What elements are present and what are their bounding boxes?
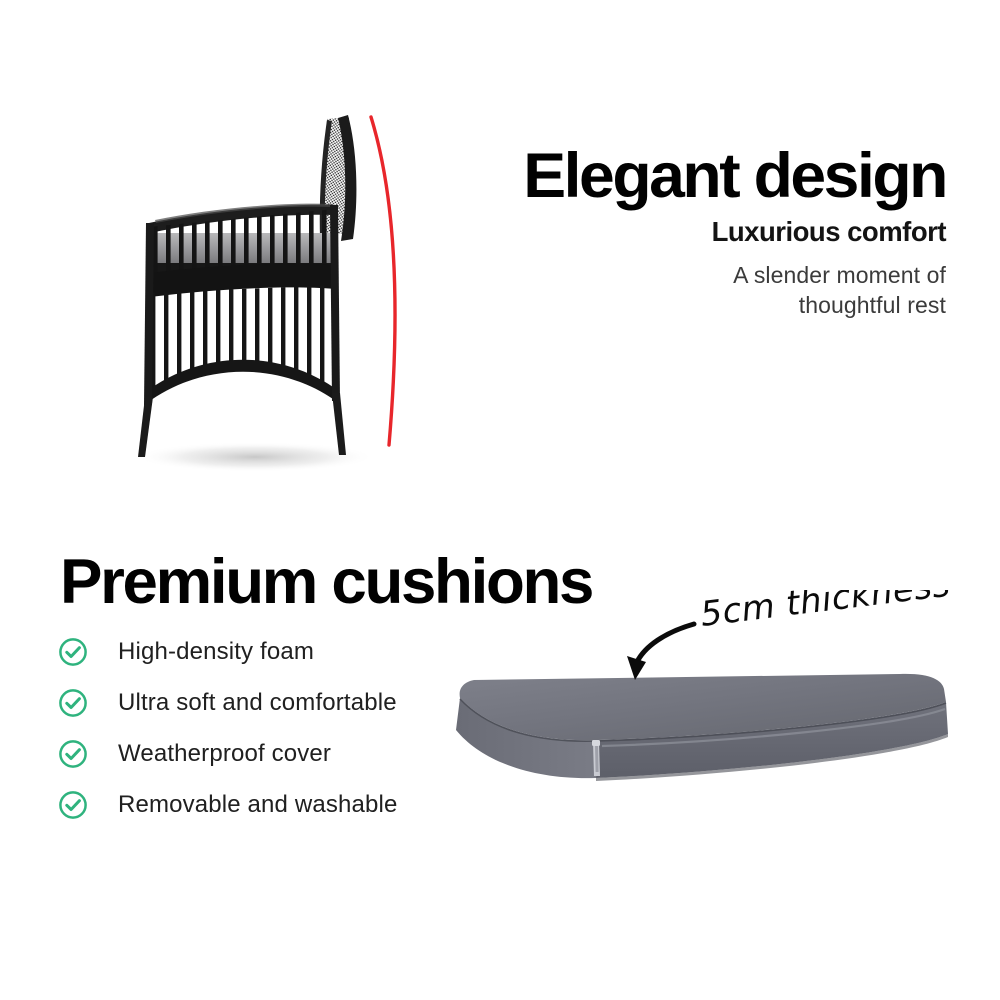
list-item-label: Removable and washable [118, 791, 397, 819]
page-subtitle: Luxurious comfort [440, 217, 946, 247]
tagline-line-2: thoughtful rest [440, 291, 946, 321]
check-circle-icon [58, 739, 88, 769]
page-title: Elegant design [430, 146, 946, 208]
product-infographic: Elegant design Luxurious comfort A slend… [0, 0, 1000, 1000]
elegant-design-text-block: Elegant design Luxurious comfort A slend… [440, 146, 946, 321]
thickness-arrowhead-icon [627, 656, 646, 680]
cushion-image-with-annotation: 5cm thickness [430, 590, 970, 805]
list-item-label: Ultra soft and comfortable [118, 689, 397, 717]
tagline-line-1: A slender moment of [440, 261, 946, 291]
check-circle-icon [58, 688, 88, 718]
chair-lower-slats [151, 285, 324, 405]
red-accent-curve [371, 117, 395, 445]
rattan-armchair-image [105, 105, 435, 485]
thickness-arrow-icon [636, 624, 694, 664]
chair-skirt-curve [147, 360, 333, 403]
chair-rear-leg [332, 393, 346, 455]
list-item: Ultra soft and comfortable [58, 677, 458, 728]
chair-rear-post [330, 205, 340, 401]
list-item: Weatherproof cover [58, 728, 458, 779]
chair-front-leg [138, 397, 153, 457]
feature-list: High-density foam Ultra soft and comfort… [58, 626, 458, 830]
thickness-annotation-label: 5cm thickness [698, 590, 952, 635]
list-item: High-density foam [58, 626, 458, 677]
list-item: Removable and washable [58, 779, 458, 830]
tagline: A slender moment of thoughtful rest [440, 261, 946, 321]
list-item-label: High-density foam [118, 638, 314, 666]
list-item-label: Weatherproof cover [118, 740, 331, 768]
check-circle-icon [58, 790, 88, 820]
check-circle-icon [58, 637, 88, 667]
